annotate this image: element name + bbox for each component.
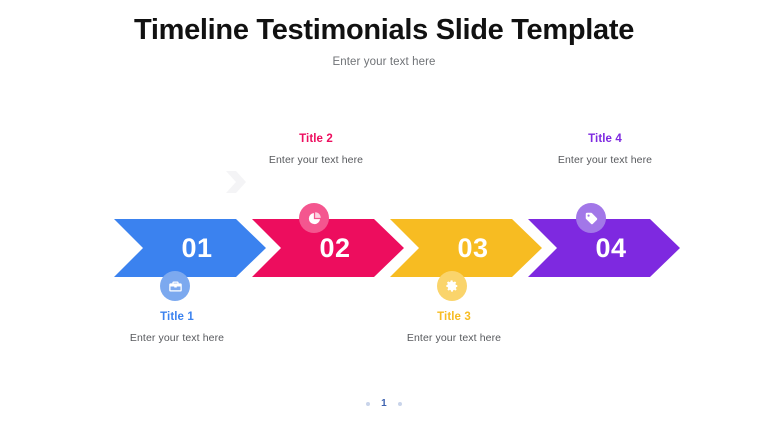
tag-icon[interactable] — [576, 203, 606, 233]
timeline: 01 Title 1 Enter your text here 02 Title… — [0, 0, 768, 432]
pagination-dot-next[interactable] — [398, 402, 402, 406]
timeline-step-3[interactable]: 03 — [390, 219, 550, 277]
arrow-shape-3 — [390, 219, 550, 277]
gear-icon[interactable] — [437, 271, 467, 301]
arrow-shape-4 — [528, 219, 688, 277]
arrow-shape-2 — [252, 219, 412, 277]
pagination-current-page: 1 — [381, 398, 387, 409]
step-description-2: Enter your text here — [216, 154, 416, 166]
slide-canvas: Timeline Testimonials Slide Template Ent… — [0, 0, 768, 432]
step-label-2: Title 2 Enter your text here — [216, 133, 416, 166]
step-label-4: Title 4 Enter your text here — [505, 133, 705, 166]
timeline-step-2[interactable]: 02 — [252, 219, 412, 277]
pagination: 1 — [0, 398, 768, 409]
step-description-4: Enter your text here — [505, 154, 705, 166]
step-label-3: Title 3 Enter your text here — [354, 311, 554, 344]
briefcase-icon[interactable] — [160, 271, 190, 301]
step-title-2: Title 2 — [216, 133, 416, 145]
step-label-1: Title 1 Enter your text here — [77, 311, 277, 344]
step-description-3: Enter your text here — [354, 332, 554, 344]
step-description-1: Enter your text here — [77, 332, 277, 344]
timeline-step-4[interactable]: 04 — [528, 219, 688, 277]
step-title-3: Title 3 — [354, 311, 554, 323]
arrow-shape-1 — [114, 219, 274, 277]
pagination-dot-previous[interactable] — [366, 402, 370, 406]
timeline-step-1[interactable]: 01 — [114, 219, 274, 277]
step-title-1: Title 1 — [77, 311, 277, 323]
pie-chart-icon[interactable] — [299, 203, 329, 233]
step-title-4: Title 4 — [505, 133, 705, 145]
